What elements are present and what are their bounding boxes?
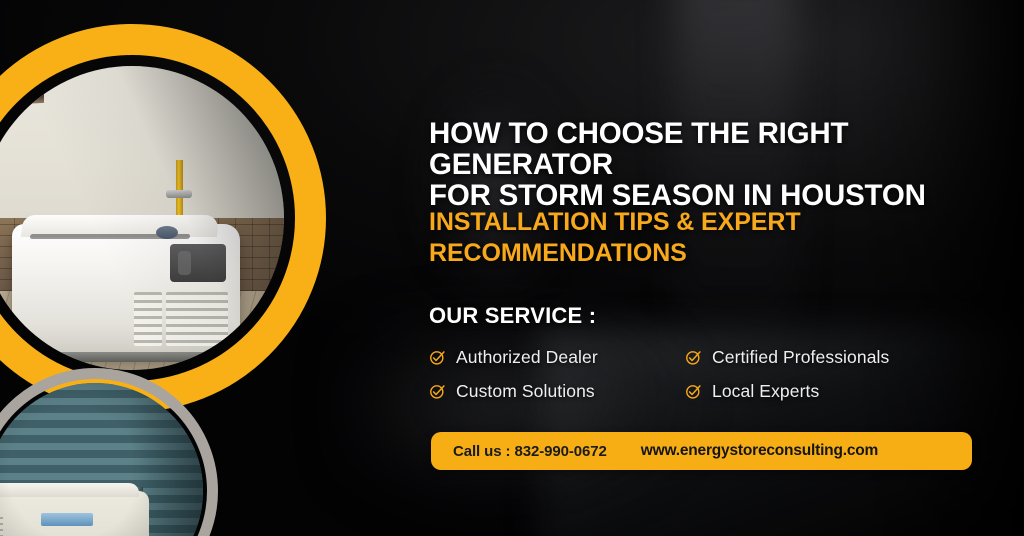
service-item-local-experts: Local Experts bbox=[685, 381, 989, 402]
mini-photo-circle: GENERAC bbox=[0, 368, 218, 536]
services-title: OUR SERVICE : bbox=[429, 303, 596, 329]
service-item-authorized-dealer: Authorized Dealer bbox=[429, 347, 685, 368]
subheading-line-1: INSTALLATION TIPS & EXPERT bbox=[429, 208, 801, 236]
hero-photo-circle bbox=[0, 24, 326, 412]
page-title: HOW TO CHOOSE THE RIGHT GENERATOR FOR ST… bbox=[429, 118, 1019, 211]
service-item-label: Authorized Dealer bbox=[456, 347, 598, 368]
circle-check-icon bbox=[429, 349, 446, 366]
contact-bar[interactable]: Call us : 832-990-0672 www.energystoreco… bbox=[431, 432, 972, 470]
circle-check-icon bbox=[429, 383, 446, 400]
content-column: HOW TO CHOOSE THE RIGHT GENERATOR FOR ST… bbox=[429, 0, 1013, 536]
circle-check-icon bbox=[685, 383, 702, 400]
service-item-custom-solutions: Custom Solutions bbox=[429, 381, 685, 402]
circle-check-icon bbox=[685, 349, 702, 366]
services-list: Authorized Dealer Certified Professional… bbox=[429, 340, 989, 408]
service-item-label: Local Experts bbox=[712, 381, 819, 402]
website-url[interactable]: www.energystoreconsulting.com bbox=[641, 442, 878, 460]
promo-banner: GENERAC HOW TO CHOOSE THE RIGHT GENERATO… bbox=[0, 0, 1024, 536]
headline-line-1: HOW TO CHOOSE THE RIGHT GENERATOR bbox=[429, 117, 848, 181]
phone-number[interactable]: Call us : 832-990-0672 bbox=[453, 443, 607, 460]
subheading-line-2: RECOMMENDATIONS bbox=[429, 238, 899, 269]
subheading: INSTALLATION TIPS & EXPERT RECOMMENDATIO… bbox=[429, 207, 899, 269]
service-item-label: Certified Professionals bbox=[712, 347, 889, 368]
service-item-certified-professionals: Certified Professionals bbox=[685, 347, 989, 368]
service-item-label: Custom Solutions bbox=[456, 381, 595, 402]
